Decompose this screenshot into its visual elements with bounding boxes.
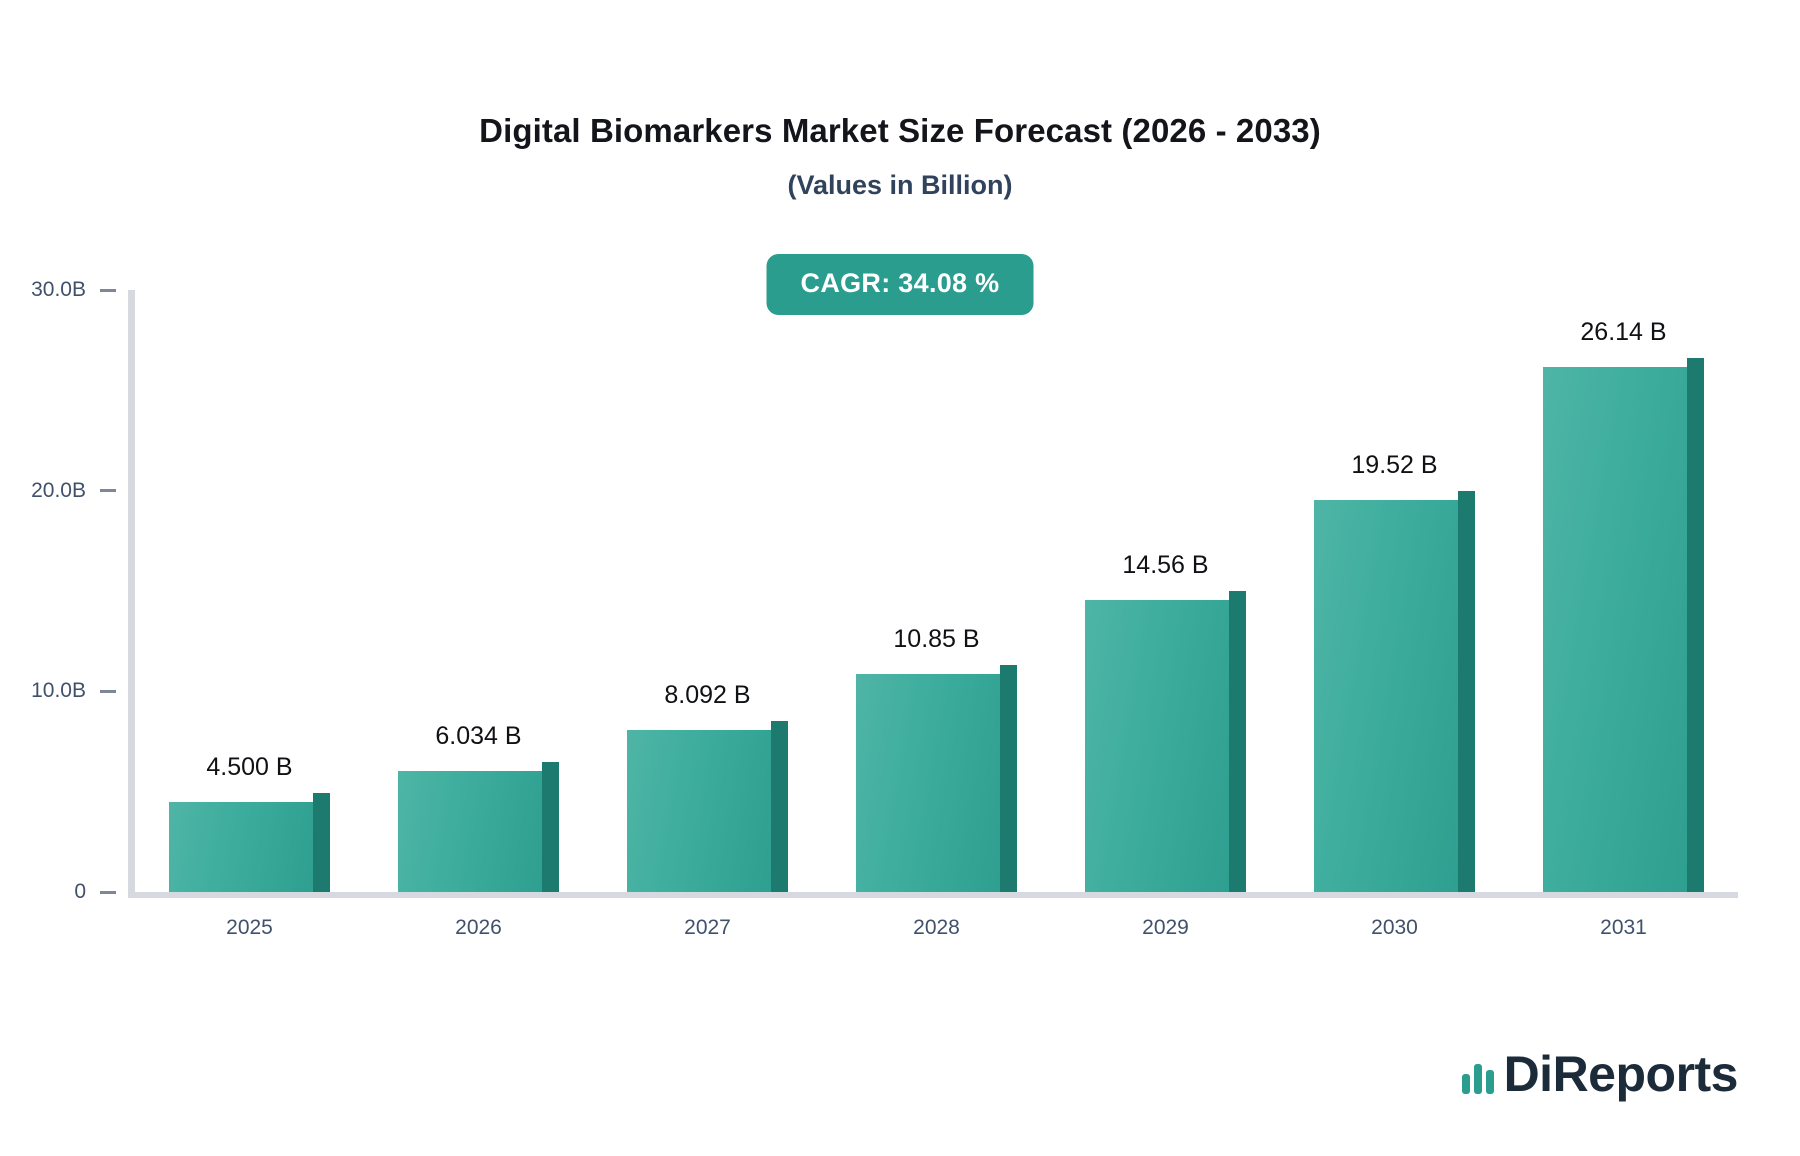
bar-value-label: 6.034 B <box>435 722 521 751</box>
x-axis-tick-label: 2030 <box>1371 916 1418 940</box>
x-axis-tick-label: 2031 <box>1600 916 1647 940</box>
bar-value-label: 8.092 B <box>664 681 750 710</box>
logo-text: DiReports <box>1504 1051 1738 1099</box>
y-axis-tick-mark <box>100 690 116 693</box>
y-axis-tick-mark <box>100 891 116 894</box>
y-axis-tick-mark <box>100 489 116 492</box>
y-axis-tick-mark <box>100 289 116 292</box>
bar-side-face <box>313 802 330 892</box>
y-axis-tick-label: 10.0B <box>8 679 86 703</box>
y-axis-tick: 10.0B <box>8 679 128 703</box>
chart-title: Digital Biomarkers Market Size Forecast … <box>0 112 1800 150</box>
x-axis-line <box>128 892 1738 898</box>
bar-front-face <box>398 771 541 892</box>
bar-body: 4.500 B <box>169 793 329 892</box>
y-axis-tick-label: 20.0B <box>8 479 86 503</box>
bar-2027[interactable]: 8.092 B <box>627 721 787 892</box>
bar-2029[interactable]: 14.56 B <box>1085 591 1245 892</box>
bar-2028[interactable]: 10.85 B <box>856 665 1016 892</box>
x-axis-tick-label: 2029 <box>1142 916 1189 940</box>
bar-body: 6.034 B <box>398 762 558 892</box>
bar-chart-logo-icon <box>1462 1064 1494 1098</box>
bar-front-face <box>627 730 770 892</box>
bar-value-label: 4.500 B <box>206 753 292 782</box>
bar-side-face <box>1000 674 1017 892</box>
y-axis-line <box>128 290 135 898</box>
bar-side-face <box>1458 500 1475 892</box>
x-axis-tick-label: 2025 <box>226 916 273 940</box>
y-axis-tick-label: 30.0B <box>8 278 86 302</box>
plot-area: 4.500 B6.034 B8.092 B10.85 B14.56 B19.52… <box>128 290 1738 898</box>
y-axis-tick: 30.0B <box>8 278 128 302</box>
chart-subtitle: (Values in Billion) <box>0 170 1800 201</box>
bar-body: 10.85 B <box>856 665 1016 892</box>
bar-value-label: 14.56 B <box>1122 551 1208 580</box>
x-axis-tick-label: 2028 <box>913 916 960 940</box>
bar-front-face <box>1543 367 1686 892</box>
y-axis-tick-label: 0 <box>8 880 86 904</box>
direports-logo: DiReports <box>1462 1051 1738 1099</box>
chart-canvas: Digital Biomarkers Market Size Forecast … <box>0 0 1800 1156</box>
bar-body: 8.092 B <box>627 721 787 892</box>
bar-front-face <box>856 674 999 892</box>
bar-value-label: 26.14 B <box>1580 318 1666 347</box>
bar-side-face <box>1229 600 1246 892</box>
bar-body: 14.56 B <box>1085 591 1245 892</box>
bar-front-face <box>1314 500 1457 892</box>
bar-side-face <box>771 730 788 892</box>
bar-2026[interactable]: 6.034 B <box>398 762 558 892</box>
x-axis-tick-label: 2026 <box>455 916 502 940</box>
bar-front-face <box>1085 600 1228 892</box>
y-axis-tick: 20.0B <box>8 479 128 503</box>
bar-2025[interactable]: 4.500 B <box>169 793 329 892</box>
bar-body: 26.14 B <box>1543 358 1703 892</box>
bar-2030[interactable]: 19.52 B <box>1314 491 1474 892</box>
x-axis-tick-label: 2027 <box>684 916 731 940</box>
bar-value-label: 10.85 B <box>893 625 979 654</box>
bar-side-face <box>1687 367 1704 892</box>
y-axis-tick: 0 <box>8 880 128 904</box>
bar-body: 19.52 B <box>1314 491 1474 892</box>
bar-side-face <box>542 771 559 892</box>
bar-series: 4.500 B6.034 B8.092 B10.85 B14.56 B19.52… <box>135 290 1738 892</box>
bar-value-label: 19.52 B <box>1351 451 1437 480</box>
bar-2031[interactable]: 26.14 B <box>1543 358 1703 892</box>
bar-front-face <box>169 802 312 892</box>
